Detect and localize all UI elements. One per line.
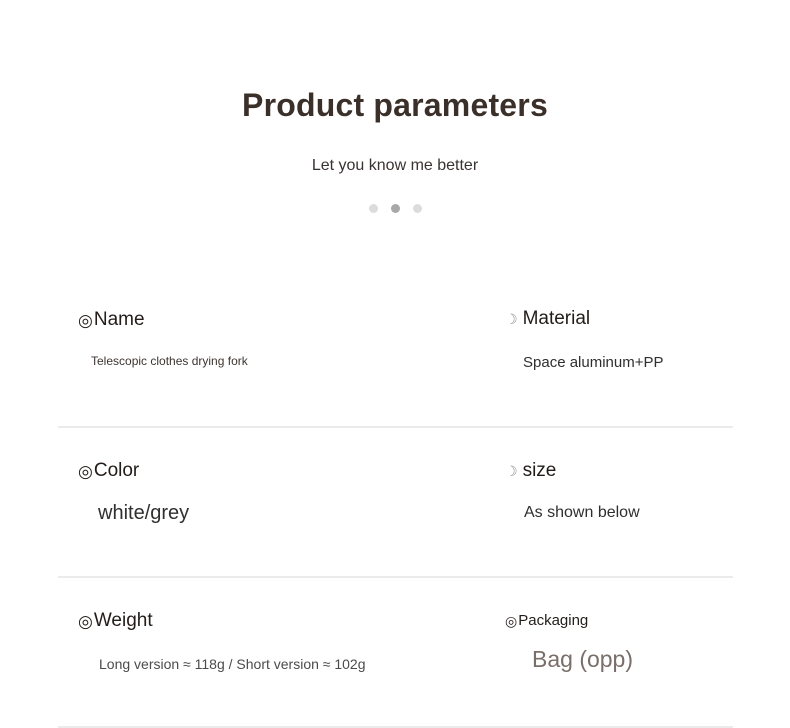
carousel-dot-2[interactable] bbox=[391, 204, 400, 213]
spec-label-name: ◎ Name bbox=[78, 308, 438, 332]
spec-label-color: ◎ Color bbox=[78, 459, 438, 483]
double-circle-icon: ◎ bbox=[78, 312, 93, 329]
spec-cell-packaging: ◎ Packaging Bag (opp) bbox=[505, 578, 785, 673]
spec-label-text: Color bbox=[94, 459, 139, 483]
spec-row: ◎ Name Telescopic clothes drying fork ☾ … bbox=[0, 278, 790, 428]
spec-value-size: As shown below bbox=[524, 504, 785, 522]
page-subtitle: Let you know me better bbox=[0, 126, 790, 177]
crescent-moon-icon: ☾ bbox=[505, 312, 518, 326]
spec-value-name: Telescopic clothes drying fork bbox=[91, 354, 438, 368]
carousel-dot-3[interactable] bbox=[413, 204, 422, 213]
spec-cell-material: ☾ Material Space aluminum+PP bbox=[505, 278, 785, 371]
spec-label-material: ☾ Material bbox=[505, 307, 785, 331]
spec-cell-weight: ◎ Weight Long version ≈ 118g / Short ver… bbox=[78, 578, 438, 672]
spec-label-packaging: ◎ Packaging bbox=[505, 611, 785, 631]
double-circle-icon: ◎ bbox=[78, 613, 93, 630]
spec-label-text: Material bbox=[523, 307, 591, 331]
page-header: Product parameters Let you know me bette… bbox=[0, 0, 790, 213]
spec-label-text: Packaging bbox=[518, 611, 588, 631]
spec-row: ◎ Weight Long version ≈ 118g / Short ver… bbox=[0, 578, 790, 728]
carousel-dots bbox=[0, 177, 790, 213]
spec-value-weight: Long version ≈ 118g / Short version ≈ 10… bbox=[99, 656, 438, 672]
spec-value-packaging: Bag (opp) bbox=[532, 646, 785, 673]
carousel-dot-1[interactable] bbox=[369, 204, 378, 213]
crescent-moon-icon: ☾ bbox=[505, 464, 518, 478]
product-parameters-page: Product parameters Let you know me bette… bbox=[0, 0, 790, 725]
spec-label-weight: ◎ Weight bbox=[78, 609, 438, 633]
double-circle-icon: ◎ bbox=[505, 614, 517, 628]
spec-label-size: ☾ size bbox=[505, 459, 785, 483]
spec-value-material: Space aluminum+PP bbox=[523, 354, 785, 371]
spec-row: ◎ Color white/grey ☾ size As shown below bbox=[0, 428, 790, 578]
spec-label-text: Weight bbox=[94, 609, 153, 633]
double-circle-icon: ◎ bbox=[78, 463, 93, 480]
spec-cell-size: ☾ size As shown below bbox=[505, 428, 785, 522]
spec-table: ◎ Name Telescopic clothes drying fork ☾ … bbox=[0, 278, 790, 728]
spec-label-text: size bbox=[523, 459, 557, 483]
spec-value-color: white/grey bbox=[98, 502, 438, 525]
spec-cell-name: ◎ Name Telescopic clothes drying fork bbox=[78, 278, 438, 368]
spec-cell-color: ◎ Color white/grey bbox=[78, 428, 438, 525]
page-title: Product parameters bbox=[0, 0, 790, 126]
spec-label-text: Name bbox=[94, 308, 145, 332]
